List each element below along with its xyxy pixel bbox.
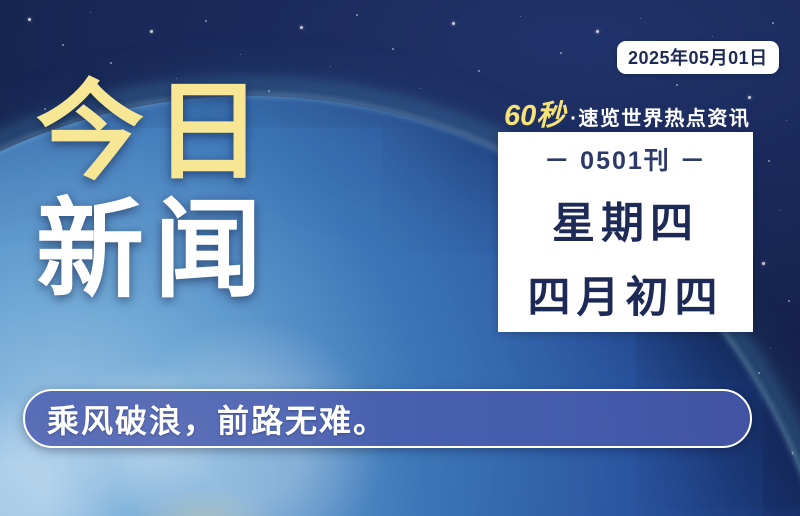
quote-text: 乘风破浪，前路无难。 bbox=[47, 396, 387, 442]
weekday-label: 星期四 bbox=[552, 189, 699, 251]
quote-bar: 乘风破浪，前路无难。 bbox=[23, 389, 752, 448]
title-line-1: 今日 bbox=[36, 78, 272, 186]
tagline: 60秒 ·速览世界热点资讯 bbox=[504, 92, 750, 134]
tagline-rest: ·速览世界热点资讯 bbox=[570, 102, 750, 131]
news-poster: 2025年05月01日 60秒 ·速览世界热点资讯 今日 新闻 － 0501刊 … bbox=[0, 0, 800, 516]
lunar-date-label: 四月初四 bbox=[528, 263, 724, 325]
title-line-2: 新闻 bbox=[36, 196, 272, 304]
date-card: － 0501刊 － 星期四 四月初四 bbox=[498, 132, 753, 332]
page-title: 今日 新闻 bbox=[36, 78, 272, 304]
tagline-highlight: 60秒 bbox=[504, 92, 565, 134]
issue-number: － 0501刊 － bbox=[544, 141, 707, 177]
date-badge: 2025年05月01日 bbox=[617, 41, 779, 74]
